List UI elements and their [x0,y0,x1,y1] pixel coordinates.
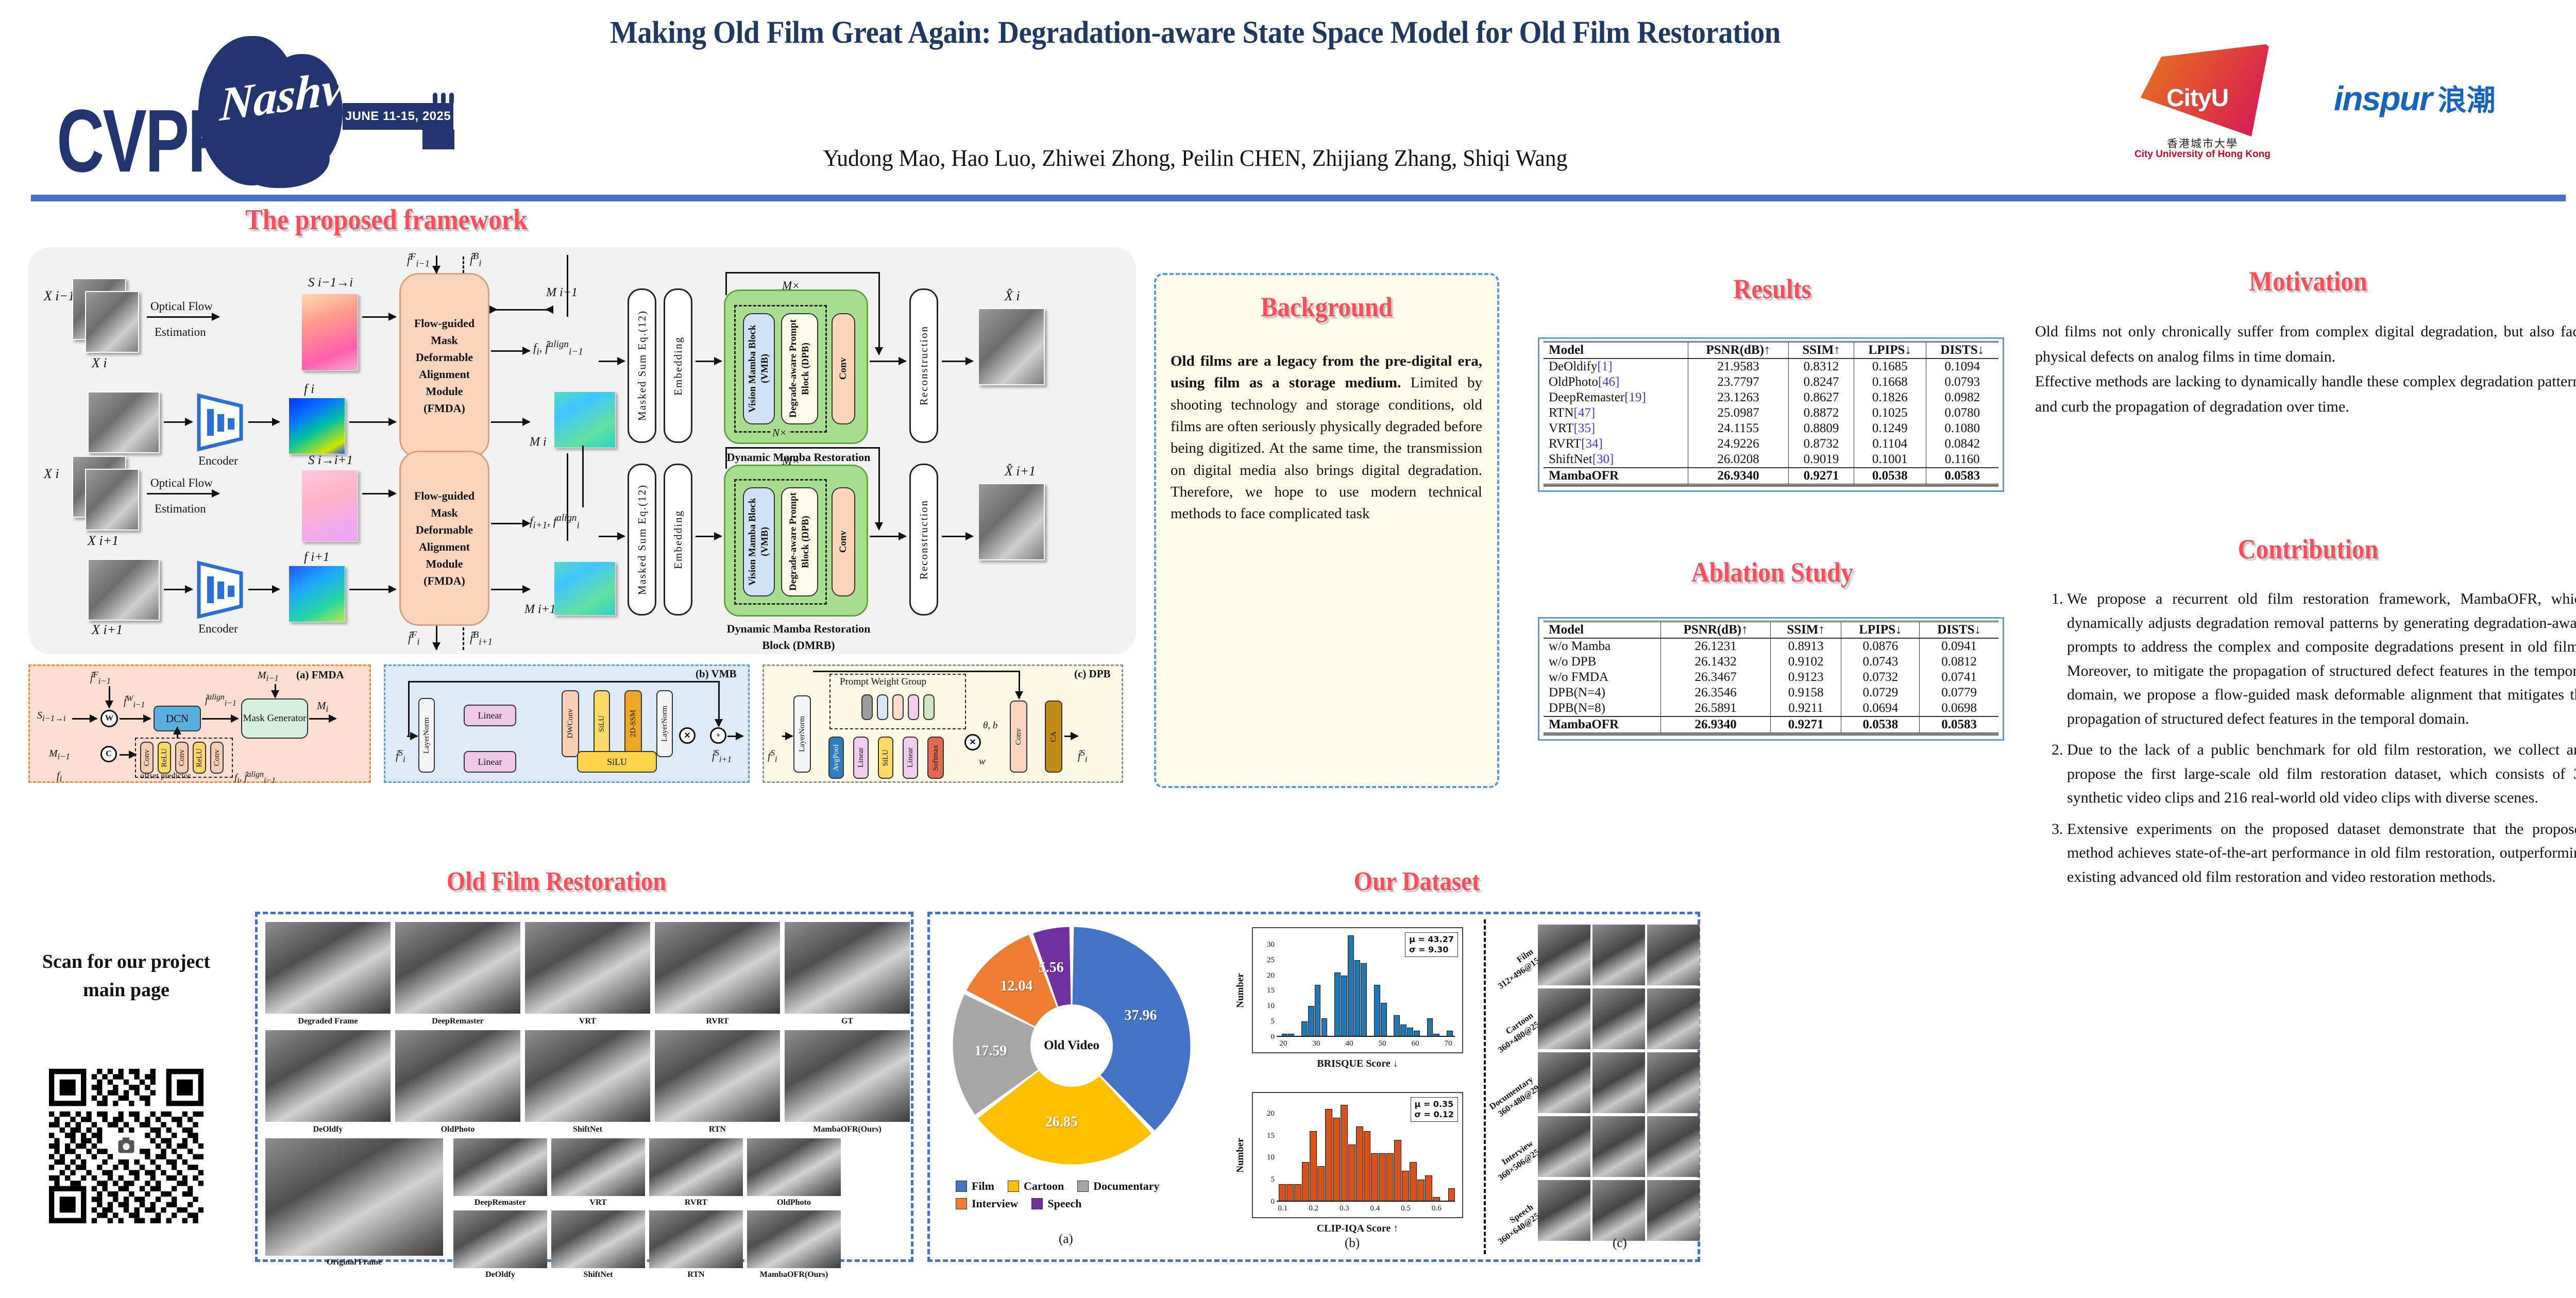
table-row: VRT[35]24.11550.88090.12490.1080 [1544,421,1998,436]
label-estimation-b: Estimation [155,502,206,516]
pie-label-film: 37.96 [1125,1007,1157,1024]
dpb-out: f̂Si [1078,748,1088,765]
y-tick: 0 [1263,1033,1275,1041]
ablation-header-row: Model PSNR(dB)↑ SSIM↑ LPIPS↓ DISTS↓ [1544,622,1998,639]
ablation-table-wrap: Model PSNR(dB)↑ SSIM↑ LPIPS↓ DISTS↓ w/o … [1538,617,2004,741]
vmb-label-a: Vision Mamba Block (VMB) [747,314,771,423]
dataset-sample-image [1592,925,1645,985]
restoration-caption: DeepRemaster [453,1198,547,1207]
x-tick: 0.6 [1429,1204,1444,1213]
label-fB-next: f̂Bi+1 [470,629,493,647]
page-title: Making Old Film Great Again: Degradation… [568,10,1823,56]
arrow-encoder-to-feat-a [248,421,279,423]
prompt-weight-3 [892,694,904,720]
hist-bar [1348,1145,1355,1202]
dataset-caption-b: (b) [1345,1236,1360,1251]
dataset-sample-image [1647,1116,1700,1177]
vmb-add-icon: + [710,727,726,744]
ablation-col-lpips: LPIPS↓ [1841,622,1920,639]
fmda-in-fF: f̂Fi−1 [90,670,111,687]
contribution-item: Due to the lack of a public benchmark fo… [2067,738,2576,810]
label-f-next: f i+1 [304,550,330,565]
qr-code[interactable] [49,1069,204,1223]
hist-bar [1333,1118,1340,1202]
fmda-in-s: Si−1→i [37,710,65,724]
contribution-item: We propose a recurrent old film restorat… [2067,587,2576,731]
poster-root: CVPR Nashville JUNE 11-15, 2025 Making O… [0,0,2576,1298]
fmda-arrow-fF [109,686,110,708]
cell-ssim: 0.8732 [1789,436,1854,452]
label-m-i-a: M i [530,435,547,449]
dataset-caption-c: (c) [1613,1236,1627,1251]
dataset-sample-image [1647,1052,1700,1113]
ablation-heading: Ablation Study [1545,556,1999,588]
masked-sum-label-b: Masked Sum Eq.(12) [636,484,649,595]
restoration-caption: ShiftNet [551,1270,645,1279]
restoration-caption: DeOldfy [265,1125,391,1134]
arrow-flow-to-fmda-a [362,316,396,318]
offset-relu-1: ReLU [158,742,171,774]
dpb-layernorm: LayerNorm [793,695,811,773]
fmda-arrow-offset-to-dcn [177,727,178,739]
hist-bar [1394,1140,1401,1202]
fmda-arrow-s [72,718,97,720]
dataset-vertical-divider [1484,919,1486,1254]
restoration-caption: GT [785,1017,910,1026]
arrow-to-encoder-a [164,421,192,423]
dataset-sample-image [1538,1116,1590,1177]
cell-ssim: 0.8913 [1770,638,1841,654]
table-row: w/o FMDA26.34670.91230.07320.0741 [1544,670,1998,685]
output-frame-a [978,308,1045,385]
cell-lpips: 0.1249 [1854,421,1926,436]
dpb-in: fSi [768,748,777,765]
arrow-mprev-into-fmda [490,309,552,311]
concat-operator-icon: C [100,746,117,762]
vmb-layernorm-2: LayerNorm [656,690,673,757]
cell-psnr: 21.9583 [1688,358,1788,374]
dataset-sample-image [1647,1180,1700,1241]
cell-psnr: 26.3467 [1661,670,1770,685]
restoration-image [395,922,520,1014]
flowmap-next [301,470,358,542]
cell-lpips: 0.0694 [1841,701,1920,716]
dpb-arrow-out [1064,736,1078,737]
subfigure-dpb-tag: (c) DPB [1074,668,1111,680]
dpb-theta-b: θ, b [983,720,997,731]
arrow-encoder-to-feat-b [248,589,279,590]
input-frame-cur-a [85,291,139,353]
conv-block-a: Conv [832,313,855,424]
restoration-caption: RTN [649,1270,743,1279]
restoration-image [395,1030,520,1122]
motivation-heading: Motivation [2058,265,2558,297]
x-tick: 0.4 [1368,1204,1382,1213]
restoration-image [649,1210,743,1268]
label-x-i-a: X i [92,355,107,371]
y-tick: 15 [1263,1132,1275,1140]
conv-label-a: Conv [837,357,850,380]
hist-bar [1302,1162,1309,1202]
dataset-sample-image [1538,1052,1590,1113]
prompt-weight-1 [861,694,873,720]
y-tick: 5 [1263,1175,1275,1184]
results-col-model: Model [1544,342,1688,359]
vmb-dwconv-label: DWConv [566,709,575,739]
prompt-weight-4 [908,694,919,720]
masked-sum-block-b: Masked Sum Eq.(12) [628,464,656,616]
vmb-silu-1: SiLU [594,690,610,757]
dpb-conv-label: Conv [1014,728,1023,745]
cell-lpips: 0.0743 [1841,654,1920,670]
table-row: MambaOFR26.93400.92710.05380.0583 [1544,716,1998,733]
skip-right-b [878,447,880,530]
label-encoder-a: Encoder [198,454,238,468]
inspur-logo: inspur浪潮 [2334,77,2576,124]
contribution-item: Extensive experiments on the proposed da… [2067,817,2576,890]
conv-block-b: Conv [832,487,855,596]
hist-bar [1354,960,1361,1037]
results-col-dists: DISTS↓ [1926,342,1998,359]
results-header-row: Model PSNR(dB)↑ SSIM↑ LPIPS↓ DISTS↓ [1544,342,1998,359]
fmda-fW: f̂Wi−1 [124,694,145,710]
logo-date-stub [422,130,454,149]
hist-bar [1301,1021,1308,1037]
label-align-a: fi, f̂aligni−1 [533,339,583,357]
cell-model: OldPhoto[46] [1544,374,1688,390]
hist-axis [1277,1036,1455,1037]
embedding-block-a: Embedding [664,288,692,443]
output-frame-b [978,483,1045,560]
subfigure-fmda-tag: (a) FMDA [296,669,344,681]
hist-bar [1325,1109,1332,1202]
table-row: RVRT[34]24.92260.87320.11040.0842 [1544,436,1998,452]
brisque-histogram: Number μ = 43.27σ = 9.30 BRISQUE Score ↓… [1252,927,1463,1053]
arrow-fmda-out-align-a [491,350,530,352]
hist-bar [1294,1184,1301,1202]
results-col-ssim: SSIM↑ [1789,342,1854,359]
pie-label-cartoon: 26.85 [1045,1114,1078,1131]
vmb-arrow-out [727,736,743,737]
fmda-arrow-to-mask [202,718,238,720]
motivation-p1: Old films not only chronically suffer fr… [2035,319,2576,369]
label-nx-a: N× [770,426,789,439]
cell-ssim: 0.9158 [1770,685,1841,701]
reference-link[interactable]: [1] [1597,360,1612,373]
warp-operator-icon: W [100,710,118,727]
pie-center-text: Old Video [1044,1038,1099,1053]
offset-predictor-note: offset predictor [140,772,191,781]
table-row: ShiftNet[30]26.02080.90190.10010.1160 [1544,452,1998,468]
skip-left-a [725,272,727,295]
cell-lpips: 0.0729 [1841,685,1920,701]
label-mx-a: M× [782,279,800,293]
inspur-name-cn: 浪潮 [2438,84,2496,117]
pie-label-documentary: 17.59 [974,1043,1007,1060]
cell-dists: 0.0583 [1926,468,1998,485]
table-row: DPB(N=4)26.35460.91580.07290.0779 [1544,685,1998,701]
pie-label-speech: 5.56 [1039,960,1064,976]
arrow-embed-to-dmrb-a [696,361,721,362]
prompt-weight-5 [923,694,935,720]
x-tick: 0.3 [1337,1204,1351,1213]
hist-bar [1286,1184,1294,1202]
arrow-fF-out-b [436,626,437,650]
ablation-table-rule [1544,734,1998,736]
embedding-label-a: Embedding [672,336,685,396]
skip-right-a [878,272,880,354]
cell-dists: 0.0793 [1926,374,1998,390]
restoration-caption: ShiftNet [525,1125,650,1134]
cell-lpips: 0.1104 [1854,436,1926,452]
framework-heading: The proposed framework [224,203,549,236]
label-f-i-a: f i [304,382,314,397]
cell-psnr: 26.5891 [1661,701,1770,716]
contribution-heading: Contribution [2058,533,2558,565]
author-list: Yudong Mao, Hao Luo, Zhiwei Zhong, Peili… [554,144,1837,172]
cell-ssim: 0.9271 [1770,716,1841,733]
cell-lpips: 0.0538 [1841,716,1920,733]
results-table-wrap: Model PSNR(dB)↑ SSIM↑ LPIPS↓ DISTS↓ DeOl… [1538,337,2004,492]
vmb-dwconv: DWConv [562,690,579,757]
hist-bar [1341,1105,1348,1202]
table-row: DeepRemaster[19]23.12630.86270.18260.098… [1544,390,1998,405]
x-tick: 70 [1441,1039,1455,1048]
cell-dists: 0.0779 [1920,685,1998,701]
cell-psnr: 26.1231 [1661,638,1770,654]
hist-bar [1381,1003,1387,1037]
arrow-into-masksum-b [599,536,624,537]
dpb-avgpool-label: AvgPool [832,744,841,771]
offset-conv-3-label: Conv [213,749,222,766]
y-tick: 30 [1263,941,1275,949]
cell-model: RTN[47] [1544,405,1688,421]
hist-bar [1321,1018,1328,1037]
table-row: OldPhoto[46]23.77970.82470.16680.0793 [1544,374,1998,390]
cell-lpips: 0.1668 [1854,374,1926,390]
dpb-softmax: Softmax [927,737,944,779]
label-s-next: S i→i+1 [308,453,353,468]
dataset-sample-image [1538,1180,1590,1241]
cell-ssim: 0.9211 [1770,701,1841,716]
cell-psnr: 23.7797 [1688,374,1788,390]
dpb-arrow-in [782,736,792,737]
mask-generator-block: Mask Generator [241,698,308,739]
clipiqa-xlabel: CLIP-IQA Score ↑ [1253,1223,1462,1235]
feature-map-a [289,398,345,454]
clipiqa-stats: μ = 0.35σ = 0.12 [1411,1097,1458,1122]
hist-bar [1308,1006,1314,1037]
ablation-col-dists: DISTS↓ [1920,622,1998,639]
dpb-label-a: Degrade-aware Prompt Block (DPB) [787,314,812,423]
reference-link[interactable]: [19] [1624,390,1646,404]
cell-dists: 0.0780 [1926,405,1998,421]
cell-lpips: 0.0876 [1841,638,1920,654]
cell-lpips: 0.1025 [1854,405,1926,421]
cell-dists: 0.0982 [1926,390,1998,405]
dpb-softmax-label: Softmax [931,745,940,771]
legend-label-speech: Speech [1047,1197,1081,1210]
x-tick: 60 [1408,1039,1422,1048]
header-divider [31,195,2566,201]
restoration-image [265,922,391,1014]
rail-m-i [567,453,568,541]
arrow-feat-to-fmda-a [349,421,396,423]
arrow-dmrb-to-recon-a [870,361,906,362]
reference-link[interactable]: [47] [1574,406,1596,420]
x-tick: 40 [1342,1039,1357,1048]
cell-model: VRT[35] [1544,421,1688,436]
dataset-sample-image [1647,925,1700,985]
reference-link[interactable]: [30] [1592,452,1614,466]
y-tick: 10 [1263,1153,1275,1162]
cell-ssim: 0.8809 [1789,421,1854,436]
brisque-stats: μ = 43.27σ = 9.30 [1405,932,1458,957]
embedding-block-b: Embedding [664,464,692,616]
reference-link[interactable]: [46] [1598,375,1620,389]
dpb-avgpool: AvgPool [828,737,844,779]
label-estimation: Estimation [155,326,206,339]
mask-map-b [554,561,616,616]
dash-fB-a [463,257,464,273]
restoration-caption: RVRT [655,1017,780,1026]
label-optical-flow-b: Optical Flow [150,476,213,490]
dataset-sample-image [1592,988,1645,1049]
table-row: DeOldify[1]21.95830.83120.16850.1094 [1544,358,1998,374]
legend-label-interview: Interview [972,1197,1018,1210]
hist-bar [1371,1153,1378,1202]
hist-bar [1341,976,1347,1037]
vmb-label-b: Vision Mamba Block (VMB) [747,488,771,595]
fmda-block-a: Flow-guided Mask Deformable Alignment Mo… [399,273,489,458]
rail-m-feedback [582,446,584,507]
cell-model: w/o Mamba [1544,638,1661,654]
hist-bar [1315,985,1321,1037]
vmb-skip-right [718,681,720,726]
label-x-next-b: X i+1 [92,622,123,638]
inspur-wordmark: inspur [2334,79,2432,117]
label-x-prev: X i−1 [44,288,75,304]
cell-ssim: 0.9123 [1770,670,1841,685]
results-col-psnr: PSNR(dB)↑ [1688,342,1788,359]
clipiqa-histogram: Number μ = 0.35σ = 0.12 CLIP-IQA Score ↑… [1252,1092,1463,1218]
hist-bar [1356,1126,1363,1202]
offset-conv-1-label: Conv [143,749,151,766]
dataset-heading: Our Dataset [1236,866,1598,897]
arrow-into-masksum-a [599,361,624,362]
arrow-flow-to-fmda-b [362,493,396,494]
arrow-recon-to-out-b [942,536,973,537]
y-tick: 0 [1263,1198,1275,1206]
arrow-to-flow-b [147,493,219,494]
qr-camera-badge-icon [113,1133,140,1159]
dash-fB-b [463,627,464,650]
dpb-linear-1: Linear [853,737,869,779]
pie-center-label: Old Video [1030,1004,1113,1087]
x-tick: 0.2 [1307,1204,1321,1213]
vmb-block-a: Vision Mamba Block (VMB) [743,313,775,424]
dpb-linear-2-label: Linear [906,747,915,767]
original-frame-caption: Original Frame [265,1258,443,1267]
masked-sum-block-a: Masked Sum Eq.(12) [628,288,656,443]
vmb-layernorm-2-label: LayerNorm [660,706,669,742]
hist-bar [1317,1166,1325,1202]
dmrb-caption-b: Dynamic Mamba Restoration Block (DMRB) [726,621,871,654]
hist-bar [1394,1015,1400,1037]
fmda-label-b: Flow-guided Mask Deformable Alignment Mo… [406,487,483,589]
vmb-layernorm-1-label: LayerNorm [422,718,431,754]
dpb-skip-right [1019,671,1020,698]
hist-bar [1386,1153,1394,1202]
x-tick: 30 [1309,1039,1324,1048]
fmda-arrow-concat-out [120,754,136,756]
cell-psnr: 26.3546 [1661,685,1770,701]
legend-label-cartoon: Cartoon [1024,1180,1064,1193]
restoration-image [747,1138,841,1196]
pie-legend-row-1: Film Cartoon Documentary [956,1180,1198,1193]
offset-conv-2: Conv [175,742,189,774]
reference-link[interactable]: [35] [1574,421,1596,435]
label-fB-a: f̂Bi [470,251,481,269]
cell-model: w/o FMDA [1544,670,1661,685]
hist-bar [1410,1162,1417,1202]
arrow-feat-to-fmda-b [349,589,396,590]
fmda-falign: f̂aligni−1 [205,693,236,708]
label-m-prev: M i−1 [546,286,578,300]
restoration-image [785,1030,910,1122]
legend-item-documentary: Documentary [1077,1180,1159,1193]
reference-link[interactable]: [34] [1581,437,1603,451]
arrow-to-flow-a [147,316,219,318]
cell-psnr: 26.9340 [1661,716,1770,733]
restoration-caption: DeOldfy [453,1270,547,1279]
ablation-table: Model PSNR(dB)↑ SSIM↑ LPIPS↓ DISTS↓ w/o … [1544,621,1998,734]
logo-dots-icon [433,93,457,107]
cell-model: DeepRemaster[19] [1544,390,1688,405]
encoder-icon-a [195,392,245,452]
cell-model: DPB(N=8) [1544,701,1661,716]
reconstruction-label-a: Reconstruction [918,326,930,405]
dataset-sample-image [1592,1180,1645,1241]
fmda-out-mi: Mi [317,699,328,714]
cell-dists: 0.1160 [1926,452,1998,468]
cell-ssim: 0.9271 [1789,468,1854,485]
hist-bar [1425,1175,1432,1202]
prompt-weight-2 [877,694,888,720]
cityu-name-en: City University of Hong Kong [2117,149,2287,160]
restoration-image [551,1138,645,1196]
cell-dists: 0.0583 [1920,716,1998,733]
legend-item-film: Film [956,1180,994,1193]
arrow-fmda-out-align-b [491,523,530,524]
hist-bar [1417,1180,1425,1202]
skip-top-a [725,272,880,274]
offset-relu-2-label: ReLU [195,748,204,767]
y-tick: 5 [1263,1017,1275,1026]
cell-ssim: 0.9019 [1789,452,1854,468]
cell-psnr: 26.1432 [1661,654,1770,670]
cvpr-wordmark: CVPR [57,90,234,192]
vmb-silu-2-label: SiLU [607,757,627,767]
hist-bar [1427,1018,1433,1037]
legend-item-cartoon: Cartoon [1008,1180,1064,1193]
label-x-i-c: X i [44,466,59,482]
cell-ssim: 0.8872 [1789,405,1854,421]
prompt-weight-group-label: Prompt Weight Group [840,676,926,688]
vmb-skip-top [408,681,718,682]
cell-model: DPB(N=4) [1544,685,1661,701]
label-out-a: X̂ i [1005,288,1020,304]
